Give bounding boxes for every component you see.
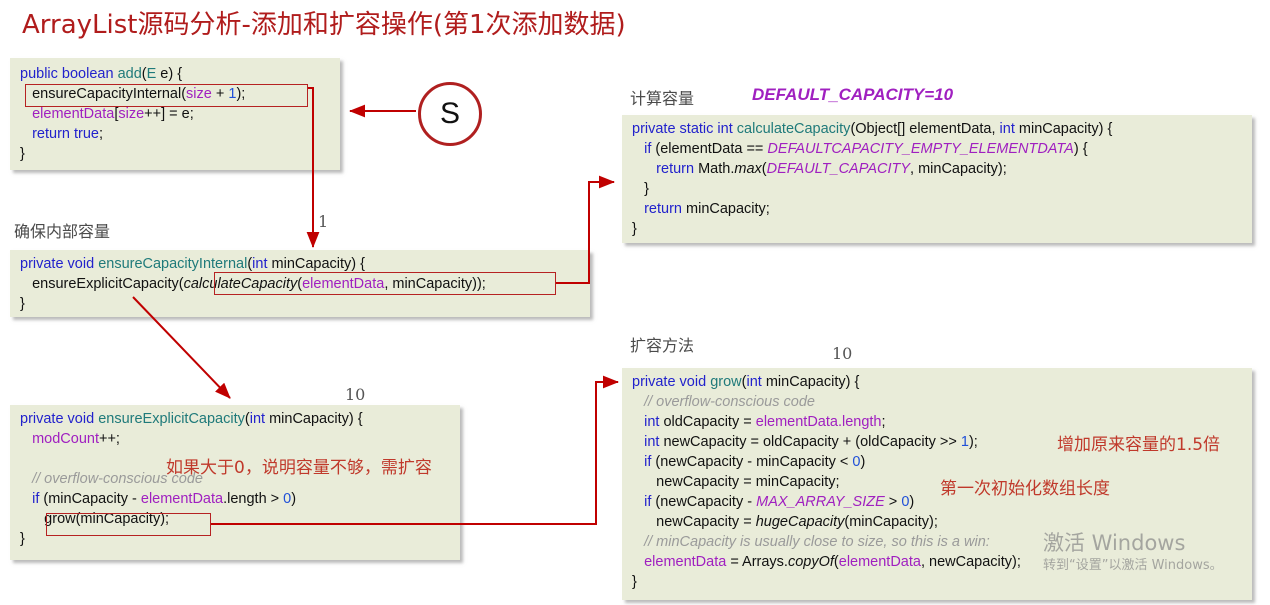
code-token: private void: [20, 256, 94, 272]
code-token: ;: [882, 414, 886, 430]
code-token: private void: [632, 374, 706, 390]
code-token: , minCapacity));: [384, 276, 486, 292]
code-token: newCapacity =: [632, 514, 756, 530]
code-token: [20, 126, 32, 142]
code-token: boolean: [62, 66, 114, 82]
slide-canvas: ArrayList源码分析-添加和扩容操作(第1次添加数据) public bo…: [0, 0, 1270, 605]
callout-number-ten-left: 10: [345, 385, 365, 404]
code-token: ) {: [1074, 141, 1088, 157]
code-token: [20, 431, 32, 447]
code-token: return true: [32, 126, 99, 142]
code-token: return: [656, 161, 694, 177]
caption-grow-method: 扩容方法: [630, 332, 694, 356]
code-token: grow(minCapacity);: [20, 511, 169, 527]
code-token: (newCapacity - minCapacity <: [651, 454, 852, 470]
code-token: E: [147, 66, 157, 82]
code-token: grow: [710, 374, 741, 390]
code-token: elementData: [32, 106, 114, 122]
code-token: minCapacity) {: [265, 411, 363, 427]
code-token: copyOf: [788, 554, 834, 570]
code-token: // overflow-conscious code: [644, 394, 815, 410]
code-token: );: [969, 434, 978, 450]
code-token: hugeCapacity: [756, 514, 845, 530]
code-token: add: [118, 66, 142, 82]
code-token: newCapacity = minCapacity;: [632, 474, 840, 490]
code-token: ++;: [99, 431, 120, 447]
code-line: private void ensureCapacityInternal(int …: [20, 254, 582, 274]
code-token: (elementData ==: [651, 141, 767, 157]
annotation-one-point-five: 增加原来容量的1.5倍: [1057, 430, 1220, 455]
code-token: elementData: [141, 491, 223, 507]
step-marker-s: S: [418, 82, 482, 146]
code-token: .length >: [223, 491, 283, 507]
code-token: );: [236, 86, 245, 102]
code-token: , newCapacity);: [921, 554, 1021, 570]
code-line: }: [632, 572, 1244, 592]
code-line: ensureCapacityInternal(size + 1);: [20, 84, 332, 104]
code-token: private static int: [632, 121, 733, 137]
code-line: modCount++;: [20, 429, 452, 449]
code-token: int: [1000, 121, 1015, 137]
code-token: ensureCapacityInternal: [98, 256, 247, 272]
code-token: >: [885, 494, 902, 510]
code-line: return true;: [20, 124, 332, 144]
code-token: size: [118, 106, 144, 122]
code-line: ensureExplicitCapacity(calculateCapacity…: [20, 274, 582, 294]
code-token: , minCapacity);: [910, 161, 1007, 177]
code-token: [632, 494, 644, 510]
code-line: return minCapacity;: [632, 199, 1244, 219]
code-token: elementData: [644, 554, 726, 570]
code-token: ): [291, 491, 296, 507]
code-token: [632, 201, 644, 217]
code-token: modCount: [32, 431, 99, 447]
code-token: = Arrays.: [726, 554, 788, 570]
code-token: newCapacity = oldCapacity + (oldCapacity…: [659, 434, 960, 450]
code-token: [632, 161, 656, 177]
code-token: return: [644, 201, 682, 217]
code-line: if (minCapacity - elementData.length > 0…: [20, 489, 452, 509]
code-token: elementData: [839, 554, 921, 570]
code-token: [632, 394, 644, 410]
code-line: private static int calculateCapacity(Obj…: [632, 119, 1244, 139]
code-token: int: [644, 434, 659, 450]
code-block-ensure-explicit-capacity: private void ensureExplicitCapacity(int …: [10, 405, 460, 560]
code-token: }: [20, 531, 25, 547]
code-token: }: [20, 146, 25, 162]
code-line: grow(minCapacity);: [20, 509, 452, 529]
code-token: [632, 534, 644, 550]
code-line: }: [632, 179, 1244, 199]
code-token: minCapacity;: [682, 201, 770, 217]
code-token: ensureCapacityInternal(: [20, 86, 186, 102]
code-token: ): [909, 494, 914, 510]
code-token: DEFAULT_CAPACITY: [767, 161, 910, 177]
code-token: size: [186, 86, 212, 102]
code-line: if (elementData == DEFAULTCAPACITY_EMPTY…: [632, 139, 1244, 159]
code-token: elementData: [302, 276, 384, 292]
code-token: minCapacity) {: [762, 374, 860, 390]
step-marker-label: S: [440, 97, 460, 131]
annotation-first-init-length: 第一次初始化数组长度: [940, 474, 1110, 499]
code-line: private void ensureExplicitCapacity(int …: [20, 409, 452, 429]
code-token: calculateCapacity: [737, 121, 851, 137]
code-token: [20, 471, 32, 487]
caption-ensure-internal: 确保内部容量: [14, 218, 110, 242]
code-token: [632, 434, 644, 450]
code-token: private void: [20, 411, 94, 427]
code-token: minCapacity) {: [1015, 121, 1113, 137]
code-token: public: [20, 66, 58, 82]
code-token: [632, 554, 644, 570]
code-token: ;: [99, 126, 103, 142]
code-token: e) {: [156, 66, 182, 82]
code-token: }: [632, 221, 637, 237]
code-line: // overflow-conscious code: [632, 392, 1244, 412]
code-token: DEFAULTCAPACITY_EMPTY_ELEMENTDATA: [767, 141, 1073, 157]
code-token: // minCapacity is usually close to size,…: [644, 534, 990, 550]
code-token: (minCapacity);: [844, 514, 937, 530]
page-title: ArrayList源码分析-添加和扩容操作(第1次添加数据): [22, 4, 626, 41]
code-token: [632, 414, 644, 430]
code-token: int: [252, 256, 267, 272]
caption-calculate-capacity: 计算容量: [630, 85, 694, 109]
code-line: public boolean add(E e) {: [20, 64, 332, 84]
code-token: oldCapacity =: [659, 414, 755, 430]
default-capacity-note: DEFAULT_CAPACITY=10: [752, 85, 953, 105]
code-block-add: public boolean add(E e) { ensureCapacity…: [10, 58, 340, 170]
code-token: [20, 491, 32, 507]
code-token: }: [632, 181, 649, 197]
code-block-ensure-capacity-internal: private void ensureCapacityInternal(int …: [10, 250, 590, 317]
code-token: int: [746, 374, 761, 390]
code-line: newCapacity = minCapacity;: [632, 472, 1244, 492]
code-token: }: [632, 574, 637, 590]
code-line: return Math.max(DEFAULT_CAPACITY, minCap…: [632, 159, 1244, 179]
code-line: if (newCapacity - MAX_ARRAY_SIZE > 0): [632, 492, 1244, 512]
code-token: ): [860, 454, 865, 470]
code-token: elementData.length: [756, 414, 882, 430]
code-token: Math.: [694, 161, 734, 177]
code-token: calculateCapacity: [184, 276, 298, 292]
code-token: [632, 454, 644, 470]
code-token: }: [20, 296, 25, 312]
code-line: }: [632, 219, 1244, 239]
code-token: (minCapacity -: [39, 491, 141, 507]
code-token: +: [212, 86, 229, 102]
callout-number-one: 1: [318, 212, 328, 231]
watermark-activate-windows-title: 激活 Windows: [1043, 527, 1185, 557]
code-line: }: [20, 529, 452, 549]
code-token: int: [250, 411, 265, 427]
annotation-need-grow: 如果大于0，说明容量不够，需扩容: [166, 453, 432, 478]
code-token: [632, 141, 644, 157]
code-token: 1: [961, 434, 969, 450]
callout-number-ten-right: 10: [832, 344, 852, 363]
code-token: [20, 106, 32, 122]
code-token: (newCapacity -: [651, 494, 756, 510]
code-line: elementData[size++] = e;: [20, 104, 332, 124]
code-line: if (newCapacity - minCapacity < 0): [632, 452, 1244, 472]
code-line: }: [20, 144, 332, 164]
code-token: (Object[] elementData,: [850, 121, 999, 137]
code-token: ++] = e;: [144, 106, 194, 122]
code-line: int oldCapacity = elementData.length;: [632, 412, 1244, 432]
code-token: ensureExplicitCapacity(: [20, 276, 184, 292]
code-line: }: [20, 294, 582, 314]
code-line: private void grow(int minCapacity) {: [632, 372, 1244, 392]
code-token: int: [644, 414, 659, 430]
watermark-activate-windows-subtitle: 转到“设置”以激活 Windows。: [1043, 554, 1223, 573]
code-block-calculate-capacity: private static int calculateCapacity(Obj…: [622, 115, 1252, 243]
code-token: ensureExplicitCapacity: [98, 411, 245, 427]
code-token: max: [734, 161, 761, 177]
code-token: MAX_ARRAY_SIZE: [756, 494, 885, 510]
code-token: minCapacity) {: [267, 256, 365, 272]
